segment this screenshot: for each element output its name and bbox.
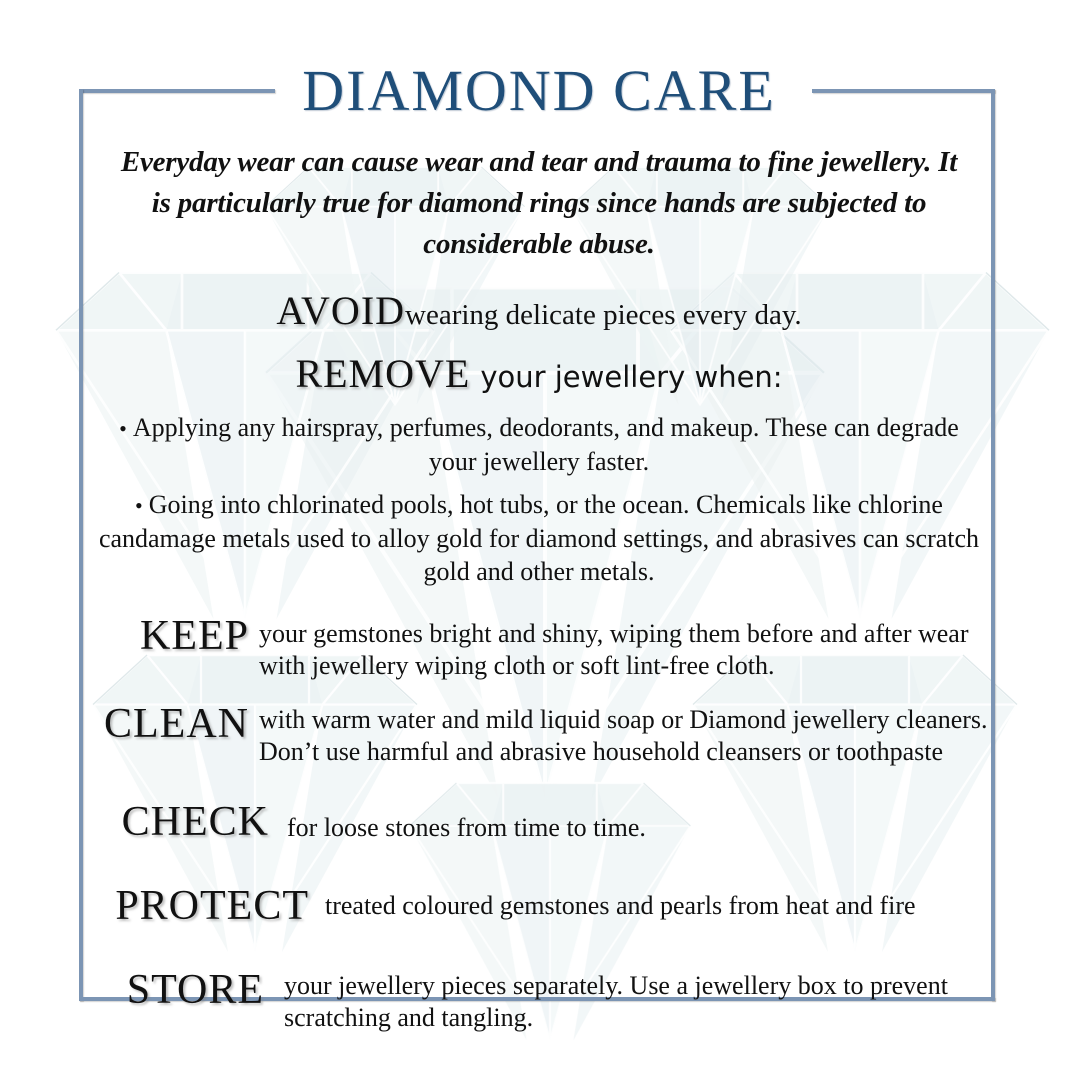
keep-body: your gemstones bright and shiny, wiping … (259, 612, 999, 682)
clean-keyword-cell: CLEAN (79, 700, 259, 748)
list-item: •Going into chlorinated pools, hot tubs,… (79, 488, 999, 588)
clean-body: with warm water and mild liquid soap or … (259, 700, 999, 768)
intro-paragraph: Everyday wear can cause wear and tear an… (109, 142, 969, 265)
check-section: CHECK for loose stones from time to time… (79, 798, 999, 846)
list-item-text: Going into chlorinated pools, hot tubs, … (99, 490, 979, 586)
bullet-dot-icon: • (135, 493, 149, 518)
care-instructions-card: DIAMOND CARE Everyday wear can cause wea… (79, 60, 999, 1034)
protect-body: treated coloured gemstones and pearls fr… (319, 882, 999, 922)
avoid-section: AVOIDwearing delicate pieces every day. (79, 287, 999, 334)
protect-keyword-cell: PROTECT (79, 882, 319, 930)
check-keyword-cell: CHECK (79, 798, 279, 846)
store-keyword: STORE (127, 967, 264, 1013)
check-keyword: CHECK (122, 799, 269, 845)
store-body: your jewellery pieces separately. Use a … (274, 966, 999, 1034)
page-title: DIAMOND CARE (79, 60, 999, 126)
list-item-text: Applying any hairspray, perfumes, deodor… (133, 413, 959, 476)
remove-section: REMOVEyour jewellery when: (79, 350, 999, 397)
store-keyword-cell: STORE (79, 966, 274, 1014)
remove-bullet-list: •Applying any hairspray, perfumes, deodo… (79, 411, 999, 588)
protect-section: PROTECT treated coloured gemstones and p… (79, 882, 999, 930)
bullet-dot-icon: • (119, 416, 133, 441)
clean-section: CLEAN with warm water and mild liquid so… (79, 700, 999, 768)
check-body: for loose stones from time to time. (279, 798, 999, 844)
remove-keyword: REMOVE (295, 351, 470, 396)
protect-keyword: PROTECT (115, 883, 309, 929)
keep-keyword-cell: KEEP (79, 612, 259, 660)
store-section: STORE your jewellery pieces separately. … (79, 966, 999, 1034)
keep-section: KEEP your gemstones bright and shiny, wi… (79, 612, 999, 682)
avoid-keyword: AVOID (276, 288, 405, 333)
clean-keyword: CLEAN (104, 701, 249, 747)
list-item: •Applying any hairspray, perfumes, deodo… (79, 411, 999, 478)
remove-body: your jewellery when: (470, 360, 782, 394)
keep-keyword: KEEP (140, 613, 249, 659)
avoid-body: wearing delicate pieces every day. (405, 299, 802, 331)
